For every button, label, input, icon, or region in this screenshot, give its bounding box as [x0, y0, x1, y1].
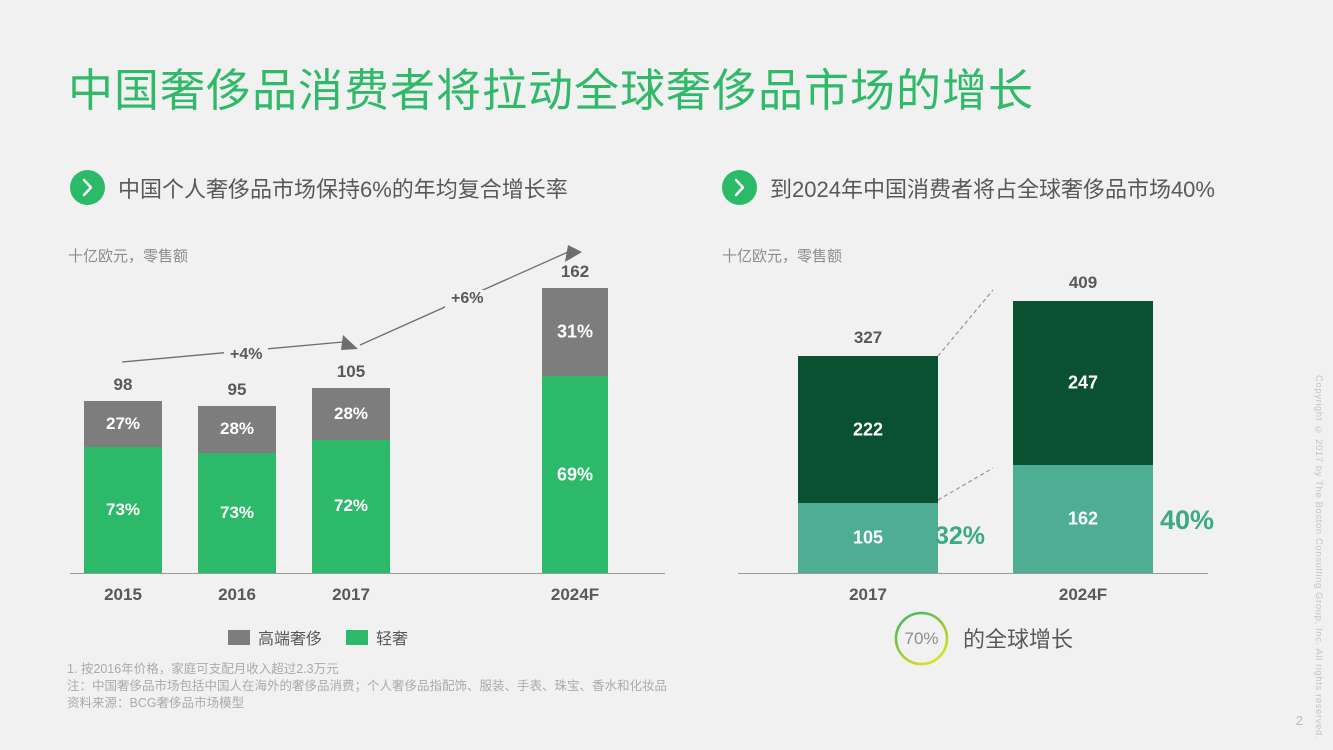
growth-label-4: +4% [224, 346, 268, 364]
share-label-2017: 32% [935, 522, 985, 551]
bar-global-2024f-segment-china: 162 [1013, 465, 1153, 573]
bar-2017-total: 105 [312, 362, 390, 382]
bar-2017-premium-label: 28% [312, 404, 390, 424]
category-label-2016: 2016 [198, 585, 276, 605]
bar-2016-premium-label: 28% [198, 419, 276, 439]
left-panel-headline: 中国个人奢侈品市场保持6%的年均复合增长率 [70, 170, 568, 205]
bar-global-2024f-total: 409 [1013, 273, 1153, 293]
bar-global-2017-segment-china: 105 [798, 503, 938, 573]
share-label-2024f: 40% [1160, 505, 1214, 536]
footnote-source: 资料来源：BCG奢侈品市场模型 [67, 695, 667, 712]
bar-2016-segment-premium: 28% [198, 406, 276, 453]
legend-label-premium: 高端奢侈 [258, 625, 322, 649]
bar-2016[interactable]: 28% 73% 95 [198, 406, 276, 573]
category-label-2015: 2015 [84, 585, 162, 605]
page-title: 中国奢侈品消费者将拉动全球奢侈品市场的增长 [68, 54, 1034, 119]
bar-global-2017-rest-label: 222 [798, 419, 938, 440]
global-growth-note: 的全球增长 [963, 622, 1073, 654]
bar-2024f-accessible-label: 69% [542, 464, 608, 485]
footnote-note: 注：中国奢侈品市场包括中国人在海外的奢侈品消费；个人奢侈品指配饰、服装、手表、珠… [67, 678, 667, 695]
category-label-2024f: 2024F [530, 585, 620, 605]
chevron-right-icon [70, 170, 105, 205]
bar-global-2024f-china-label: 162 [1013, 509, 1153, 530]
chart-china-personal-luxury: +4% +6% 27% 73% 98 2015 28% 73% 95 2016 [60, 240, 680, 610]
bar-2015-total: 98 [84, 375, 162, 395]
bar-2015-premium-label: 27% [84, 414, 162, 434]
legend-item-premium[interactable]: 高端奢侈 [228, 625, 322, 649]
bar-global-2024f[interactable]: 247 162 409 [1013, 301, 1153, 573]
bar-2016-total: 95 [198, 380, 276, 400]
category-label-global-2017: 2017 [798, 585, 938, 605]
bar-global-2017-china-label: 105 [798, 528, 938, 549]
legend-item-accessible[interactable]: 轻奢 [346, 625, 408, 649]
global-growth-circle: 70% [893, 610, 950, 667]
slide: 中国奢侈品消费者将拉动全球奢侈品市场的增长 中国个人奢侈品市场保持6%的年均复合… [0, 0, 1333, 750]
bar-2015-segment-premium: 27% [84, 401, 162, 447]
bar-global-2017-segment-rest: 222 [798, 356, 938, 503]
right-panel-headline: 到2024年中国消费者将占全球奢侈品市场40% [722, 170, 1215, 205]
footnote-1: 1. 按2016年价格，家庭可支配月收入超过2.3万元 [67, 661, 667, 678]
legend-swatch-premium [228, 630, 250, 645]
chart-global-luxury-share: 222 105 327 2017 247 162 409 2024F [718, 240, 1218, 610]
right-chart-axis [738, 573, 1208, 574]
chevron-right-icon [722, 170, 757, 205]
bar-global-2024f-segment-rest: 247 [1013, 301, 1153, 465]
bar-2024f-segment-accessible: 69% [542, 376, 608, 573]
category-label-2017: 2017 [312, 585, 390, 605]
bar-2016-accessible-label: 73% [198, 503, 276, 523]
left-chart-axis [70, 573, 665, 574]
legend-swatch-accessible [346, 630, 368, 645]
bar-2015-accessible-label: 73% [84, 500, 162, 520]
bar-global-2017[interactable]: 222 105 327 [798, 356, 938, 573]
bar-2024f-segment-premium: 31% [542, 288, 608, 376]
global-growth-value: 70% [893, 610, 950, 667]
bar-2017[interactable]: 28% 72% 105 [312, 388, 390, 573]
right-headline-text: 到2024年中国消费者将占全球奢侈品市场40% [770, 172, 1215, 204]
left-headline-text: 中国个人奢侈品市场保持6%的年均复合增长率 [118, 172, 568, 204]
bar-2017-accessible-label: 72% [312, 496, 390, 516]
growth-label-6: +6% [445, 290, 489, 308]
bar-global-2024f-rest-label: 247 [1013, 373, 1153, 394]
bar-2015[interactable]: 27% 73% 98 [84, 401, 162, 573]
bar-2024f-total: 162 [542, 262, 608, 282]
legend-label-accessible: 轻奢 [376, 625, 408, 649]
bar-2016-segment-accessible: 73% [198, 453, 276, 573]
bar-2017-segment-accessible: 72% [312, 440, 390, 573]
bar-2015-segment-accessible: 73% [84, 447, 162, 573]
bar-2024f-premium-label: 31% [542, 322, 608, 343]
bar-2017-segment-premium: 28% [312, 388, 390, 440]
category-label-global-2024f: 2024F [1013, 585, 1153, 605]
footnotes: 1. 按2016年价格，家庭可支配月收入超过2.3万元 注：中国奢侈品市场包括中… [67, 661, 667, 712]
bar-global-2017-total: 327 [798, 328, 938, 348]
bar-2024f[interactable]: 31% 69% 162 [542, 288, 608, 573]
copyright-text: Copyright © 2017 by The Boston Consultin… [1313, 375, 1324, 739]
page-number: 2 [1296, 713, 1303, 728]
left-chart-legend: 高端奢侈 轻奢 [228, 625, 422, 649]
